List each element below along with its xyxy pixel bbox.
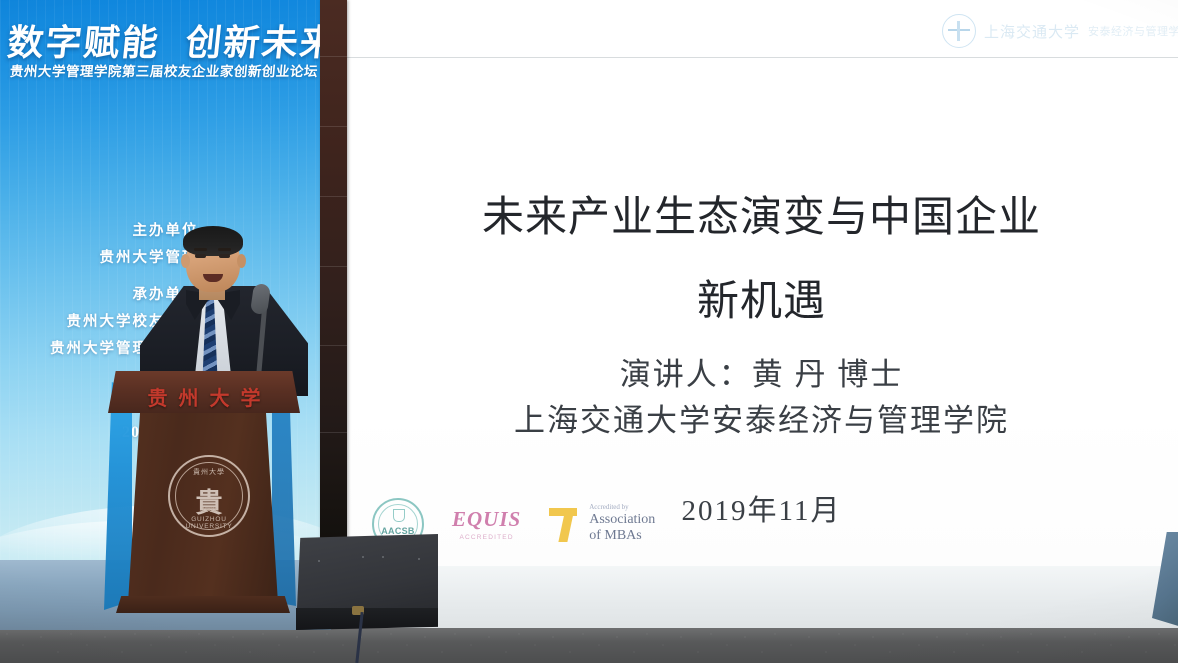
- amba-arrow-icon: [549, 504, 583, 544]
- amba-line3: of MBAs: [589, 528, 655, 544]
- equis-label: EQUIS: [452, 507, 521, 532]
- slide-title-line2: 新机遇: [345, 259, 1178, 343]
- podium-nameplate: 贵州大学: [108, 382, 300, 411]
- amba-line2: Association: [589, 512, 655, 528]
- column-seam-2: [320, 126, 347, 127]
- monitor-lower-panel: [296, 608, 438, 630]
- amba-line1: Accredited by: [589, 504, 655, 512]
- sjtu-logo: 上海交通大学 安泰经济与管理学院: [942, 14, 1178, 48]
- column-seam-6: [320, 432, 347, 433]
- emblem-chinese-top: 貴州大學: [170, 467, 248, 477]
- amba-text: Accredited by Association of MBAs: [589, 504, 655, 543]
- column-seam-5: [320, 345, 347, 346]
- column-seam-1: [320, 56, 347, 57]
- speaker-eye-right: [219, 254, 230, 258]
- sjtu-school-name: 安泰经济与管理学院: [1088, 23, 1178, 39]
- organizer-spacer: [0, 272, 331, 282]
- banner-headline-left: 数字赋能: [6, 23, 162, 63]
- aacsb-cup-icon: [393, 509, 405, 522]
- slide-title: 未来产业生态演变与中国企业 新机遇: [345, 175, 1178, 343]
- amba-logo: Accredited by Association of MBAs: [549, 504, 655, 544]
- banner-subtitle: 贵州大学管理学院第三届校友企业家创新创业论坛: [9, 60, 326, 80]
- column-seam-4: [320, 266, 347, 267]
- speaker-eye-left: [195, 254, 206, 258]
- conference-stage-photo: 上海交通大学 安泰经济与管理学院 未来产业生态演变与中国企业 新机遇 演讲人：黄…: [0, 0, 1178, 663]
- slide-speaker-line: 演讲人：黄 丹 博士: [345, 352, 1178, 398]
- aacsb-label: AACSB: [374, 526, 422, 536]
- slide-speaker-block: 演讲人：黄 丹 博士 上海交通大学安泰经济与管理学院: [345, 352, 1178, 444]
- wall-column: [320, 0, 347, 600]
- emblem-year: 1902: [170, 507, 248, 514]
- speaker-brow-right: [218, 248, 231, 251]
- column-seam-3: [320, 196, 347, 197]
- speaker-ear-left: [181, 254, 190, 268]
- co-organizer-label: 承办单位: [0, 282, 331, 309]
- slide-affiliation: 上海交通大学安泰经济与管理学院: [345, 398, 1178, 444]
- screen-top-seam: [345, 57, 1178, 58]
- guizhou-university-emblem: 貴州大學 貴 1902 GUIZHOU UNIVERSITY: [168, 455, 250, 537]
- floor-texture: [0, 628, 1178, 663]
- sjtu-seal-icon: [942, 14, 976, 48]
- slide-title-line1: 未来产业生态演变与中国企业: [482, 192, 1041, 241]
- speaker-ear-right: [237, 254, 246, 268]
- speaker-hair: [183, 226, 243, 256]
- emblem-english-name: GUIZHOU UNIVERSITY: [170, 516, 248, 530]
- speaker-brow-left: [194, 248, 207, 251]
- emblem-center-char: 貴: [170, 481, 248, 520]
- equis-sub-label: ACCREDITED: [459, 534, 513, 541]
- sjtu-university-name: 上海交通大学: [984, 21, 1080, 42]
- monitor-screw-1: [318, 560, 320, 562]
- podium-base: [116, 596, 290, 613]
- monitor-screw-3: [382, 556, 384, 558]
- banner-headline: 数字赋能创新未来: [5, 14, 330, 66]
- banner-headline-right: 创新未来: [184, 23, 340, 63]
- organizer-label: 主办单位: [0, 218, 331, 245]
- equis-logo: EQUIS ACCREDITED: [452, 507, 521, 541]
- organizer-name: 贵州大学管理学院: [0, 245, 331, 272]
- monitor-screw-2: [362, 556, 364, 558]
- monitor-screw-4: [418, 558, 420, 560]
